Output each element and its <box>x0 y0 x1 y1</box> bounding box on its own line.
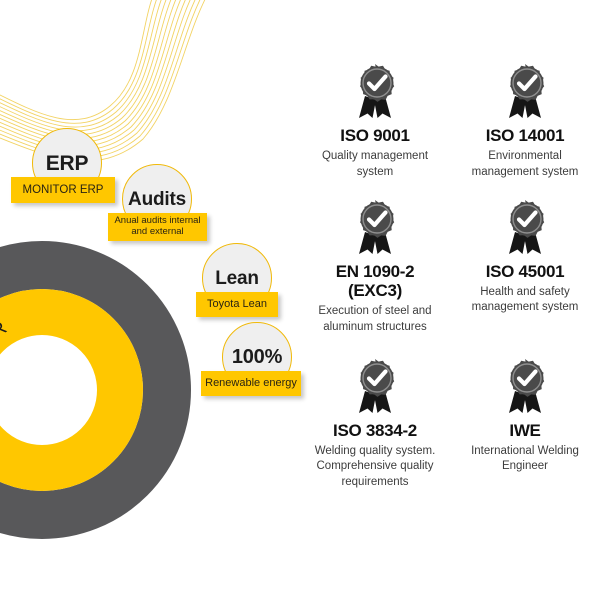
bubble-audits-tag-line2: and external <box>131 226 183 237</box>
cert-subtitle: Quality management system <box>308 149 442 179</box>
award-ribbon-check-icon <box>308 357 442 419</box>
bubble-erp-tag[interactable]: MONITOR ERP <box>11 177 115 203</box>
cert-title: ISO 3834-2 <box>308 421 442 440</box>
award-ribbon-check-icon <box>458 198 592 260</box>
cert-subtitle: Execution of steel and aluminum structur… <box>308 304 442 334</box>
award-ribbon-check-icon <box>308 198 442 260</box>
bubble-lean-tag[interactable]: Toyota Lean <box>196 292 278 317</box>
cert-subtitle: Environmental management system <box>458 149 592 179</box>
bubble-audits-title: Audits <box>128 190 186 209</box>
certifications-grid: ISO 9001 Quality management system ISO 1… <box>300 62 600 490</box>
bubble-audits-tag-line1: Anual audits internal <box>114 215 200 226</box>
cert-iso-3834-2[interactable]: ISO 3834-2 Welding quality system. Compr… <box>300 357 450 490</box>
award-ribbon-check-icon <box>458 357 592 419</box>
cert-subtitle: Health and safety management system <box>458 285 592 315</box>
cert-iwe[interactable]: IWE International Welding Engineer <box>450 357 600 490</box>
certifications-row-1: ISO 9001 Quality management system ISO 1… <box>300 62 600 180</box>
cert-title: IWE <box>458 421 592 440</box>
cert-title: EN 1090-2 (EXC3) <box>308 262 442 301</box>
cert-en-1090-2[interactable]: EN 1090-2 (EXC3) Execution of steel and … <box>300 198 450 335</box>
cert-iso-45001[interactable]: ISO 45001 Health and safety management s… <box>450 198 600 335</box>
bubble-lean-title: Lean <box>215 269 259 288</box>
certifications-row-2: EN 1090-2 (EXC3) Execution of steel and … <box>300 198 600 335</box>
bubble-audits-tag[interactable]: Anual audits internal and external <box>108 213 207 241</box>
donut-inner-ring <box>0 312 120 468</box>
cert-iso-14001[interactable]: ISO 14001 Environmental management syste… <box>450 62 600 180</box>
cert-title: ISO 45001 <box>458 262 592 281</box>
award-ribbon-check-icon <box>458 62 592 124</box>
cert-subtitle: International Welding Engineer <box>458 444 592 474</box>
donut-inner-label: CUSTOMER <box>0 317 12 440</box>
cert-title: ISO 14001 <box>458 126 592 145</box>
award-ribbon-check-icon <box>308 62 442 124</box>
cert-iso-9001[interactable]: ISO 9001 Quality management system <box>300 62 450 180</box>
cert-subtitle: Welding quality system. Comprehensive qu… <box>308 444 442 490</box>
certifications-row-3: ISO 3834-2 Welding quality system. Compr… <box>300 357 600 490</box>
infographic-canvas: To privide quality product on time while… <box>0 0 600 600</box>
customer-donut-chart: To privide quality product on time while… <box>0 238 194 542</box>
bubble-renewable-tag[interactable]: Renewable energy <box>201 371 301 396</box>
bubble-erp-title: ERP <box>46 153 89 174</box>
bubble-renewable-title: 100% <box>232 347 282 367</box>
cert-title: ISO 9001 <box>308 126 442 145</box>
